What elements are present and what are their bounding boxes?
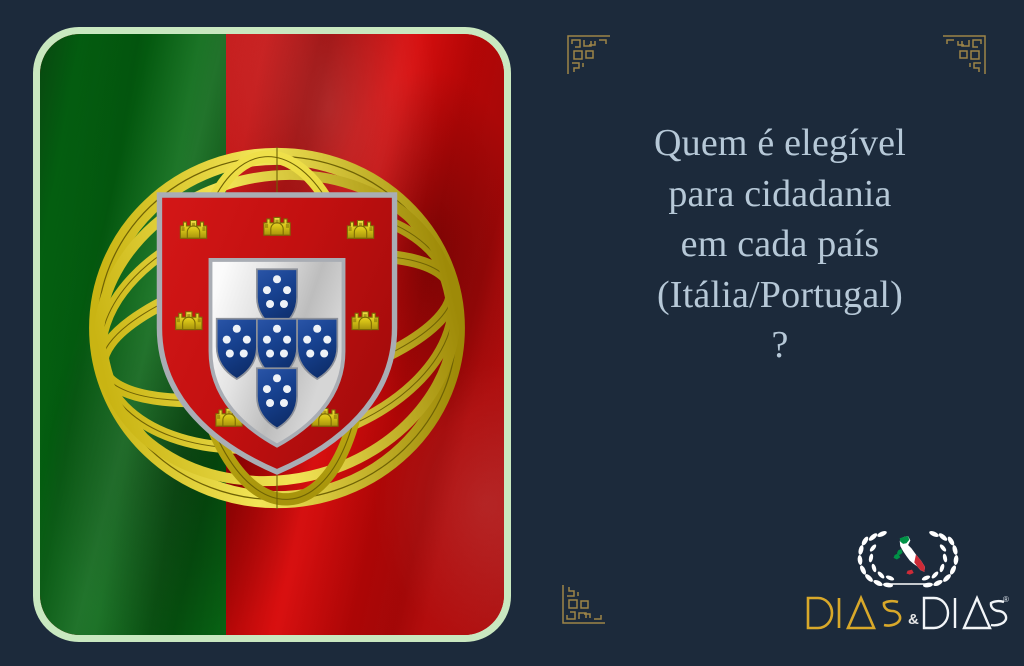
headline-line-4: (Itália/Portugal): [560, 270, 1000, 321]
page-headline: Quem é elegível para cidadania em cada p…: [560, 118, 1000, 371]
headline-line-2: para cidadania: [560, 169, 1000, 220]
headline-line-3: em cada país: [560, 219, 1000, 270]
brand-logo[interactable]: & ®: [804, 524, 1012, 646]
italy-map-icon: [894, 536, 925, 575]
headline-line-1: Quem é elegível: [560, 118, 1000, 169]
brand-wordmark: & ®: [804, 590, 1012, 636]
portugal-flag-card: [33, 27, 511, 642]
laurel-wreath-italy-map-icon: [844, 524, 972, 590]
greek-key-corner-ornament-top-right: [941, 30, 987, 76]
portugal-coat-of-arms: [45, 88, 504, 568]
wordmark-dias-secondary: [924, 598, 1006, 628]
wordmark-dias-primary: [808, 598, 900, 628]
portugal-shield: [159, 195, 394, 472]
wordmark-trademark: ®: [1003, 595, 1009, 604]
headline-line-5: ?: [560, 320, 1000, 371]
greek-key-corner-ornament-bottom-left: [561, 583, 607, 629]
wordmark-ampersand: &: [908, 611, 919, 628]
dias-and-dias-wordmark: & ®: [804, 590, 1012, 636]
portugal-flag: [40, 34, 504, 635]
greek-key-corner-ornament-top-left: [566, 30, 612, 76]
